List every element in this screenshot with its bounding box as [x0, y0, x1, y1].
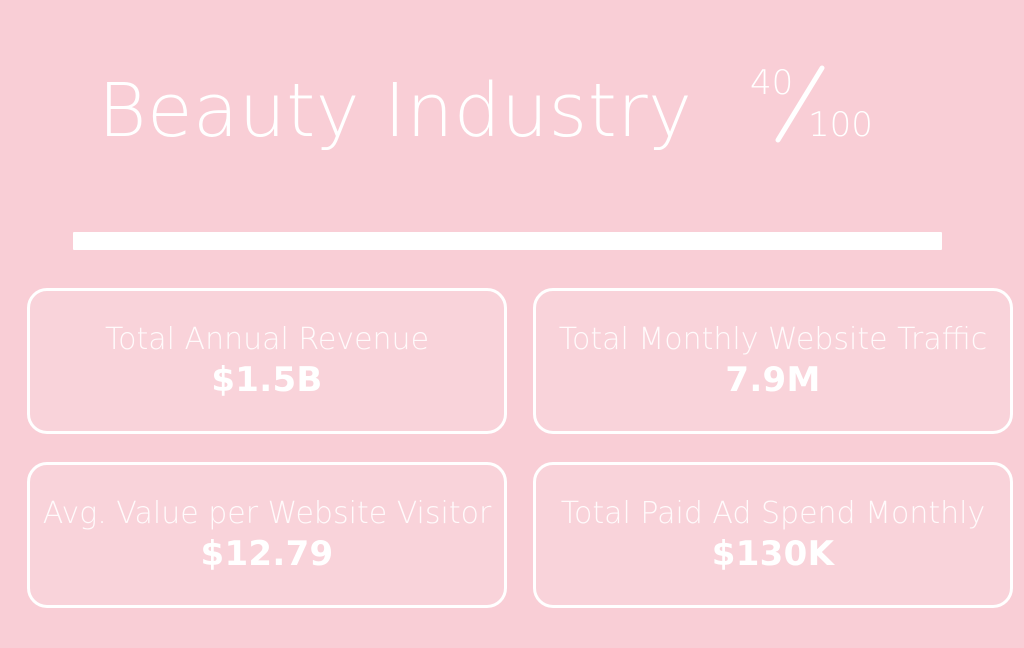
stat-value: 7.9M	[725, 362, 820, 399]
stat-label: Total Paid Ad Spend Monthly	[561, 497, 985, 530]
header: Beauty Industry 40 100	[0, 0, 1024, 200]
stat-card-total-paid-ad-spend-monthly: Total Paid Ad Spend Monthly $130K	[533, 462, 1013, 608]
stat-card-total-monthly-website-traffic: Total Monthly Website Traffic 7.9M	[533, 288, 1013, 434]
score-denominator: 100	[808, 108, 873, 142]
score-indicator: 40 100	[742, 56, 882, 152]
stat-value: $130K	[712, 536, 834, 573]
stat-label: Total Monthly Website Traffic	[559, 323, 988, 356]
stat-card-grid: Total Annual Revenue $1.5B Total Monthly…	[27, 288, 993, 608]
stat-label: Total Annual Revenue	[105, 323, 429, 356]
divider-bar	[73, 232, 942, 250]
stat-label: Avg. Value per Website Visitor	[43, 497, 492, 530]
stat-card-total-annual-revenue: Total Annual Revenue $1.5B	[27, 288, 507, 434]
stat-value: $1.5B	[211, 362, 322, 399]
stat-value: $12.79	[200, 536, 333, 573]
page-title: Beauty Industry	[98, 74, 692, 148]
infographic-canvas: Beauty Industry 40 100 Total Annual Reve…	[0, 0, 1024, 648]
stat-card-avg-value-per-website-visitor: Avg. Value per Website Visitor $12.79	[27, 462, 507, 608]
